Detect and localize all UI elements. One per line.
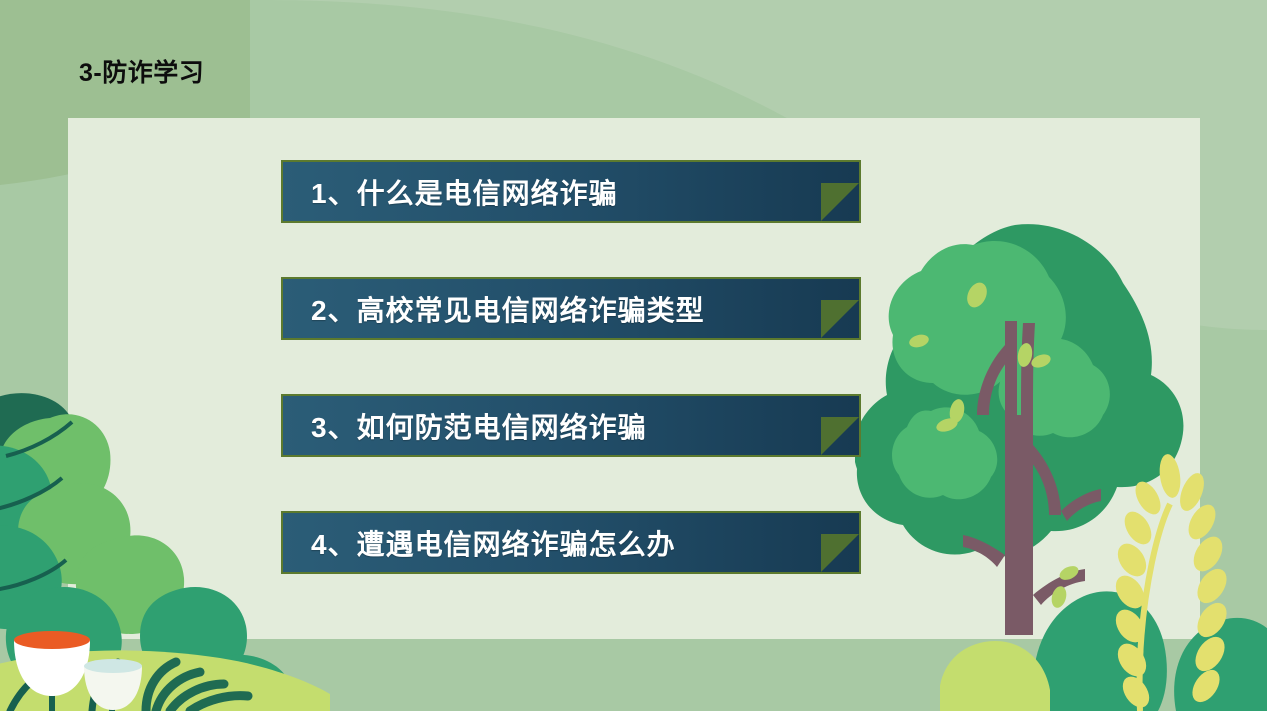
corner-triangle-icon bbox=[821, 300, 859, 338]
corner-triangle-icon bbox=[821, 183, 859, 221]
agenda-list: 1、什么是电信网络诈骗 2、高校常见电信网络诈骗类型 3、如何防范电信网络诈骗 … bbox=[281, 160, 861, 574]
agenda-item-label: 4、遭遇电信网络诈骗怎么办 bbox=[283, 523, 676, 563]
leaf-blob-2 bbox=[1174, 618, 1267, 711]
fern-leaves-right bbox=[940, 430, 1267, 711]
agenda-item-2[interactable]: 2、高校常见电信网络诈骗类型 bbox=[281, 277, 861, 340]
agenda-item-label: 1、什么是电信网络诈骗 bbox=[283, 172, 618, 212]
agenda-item-label: 2、高校常见电信网络诈骗类型 bbox=[283, 289, 705, 329]
agenda-item-1[interactable]: 1、什么是电信网络诈骗 bbox=[281, 160, 861, 223]
slide-canvas: 3-防诈学习 1、什么是电信网络诈骗 2、高校常见电信网络诈骗类型 3、如何防范… bbox=[0, 0, 1267, 711]
agenda-item-3[interactable]: 3、如何防范电信网络诈骗 bbox=[281, 394, 861, 457]
leaf-blob-yellow bbox=[940, 641, 1050, 711]
corner-triangle-icon bbox=[821, 417, 859, 455]
fern-frond bbox=[1110, 453, 1233, 711]
agenda-item-label: 3、如何防范电信网络诈骗 bbox=[283, 406, 647, 446]
page-title: 3-防诈学习 bbox=[79, 53, 204, 89]
agenda-item-4[interactable]: 4、遭遇电信网络诈骗怎么办 bbox=[281, 511, 861, 574]
corner-triangle-icon bbox=[821, 534, 859, 572]
